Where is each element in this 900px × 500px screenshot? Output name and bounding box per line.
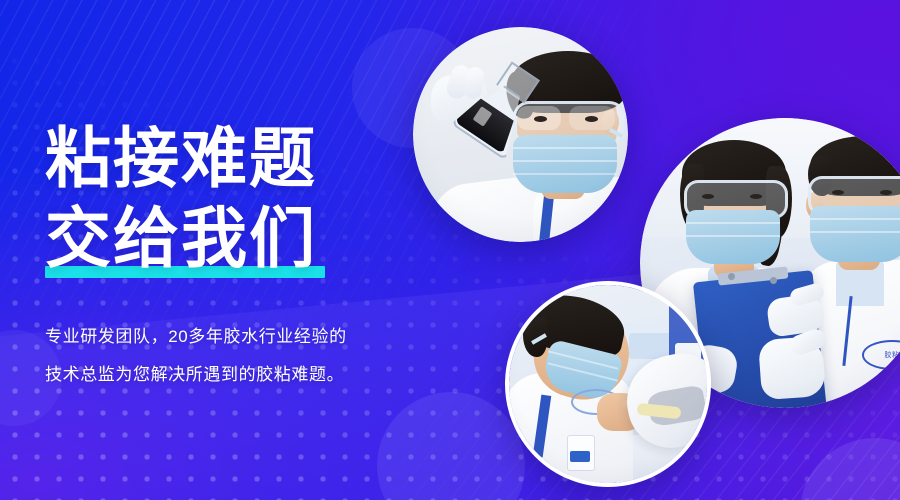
decorative-circle-2 xyxy=(377,392,525,500)
headline-line-2: 交给我们 xyxy=(45,198,415,278)
decorative-circle-3 xyxy=(800,438,900,500)
subtitle: 专业研发团队，20多年胶水行业经验的 技术总监为您解决所遇到的胶粘难题。 xyxy=(45,318,415,394)
photo-technician-applying-adhesive xyxy=(505,281,711,487)
headline: 粘接难题 交给我们 xyxy=(45,118,415,278)
photo-chemist-holding-flask xyxy=(413,27,628,242)
promo-banner: 胶粘 xyxy=(0,0,900,500)
copy-block: 粘接难题 交给我们 专业研发团队，20多年胶水行业经验的 技术总监为您解决所遇到… xyxy=(45,118,415,394)
subtitle-line-1: 专业研发团队，20多年胶水行业经验的 xyxy=(45,318,415,356)
headline-line-1: 粘接难题 xyxy=(45,118,415,198)
subtitle-line-2: 技术总监为您解决所遇到的胶粘难题。 xyxy=(45,356,415,394)
